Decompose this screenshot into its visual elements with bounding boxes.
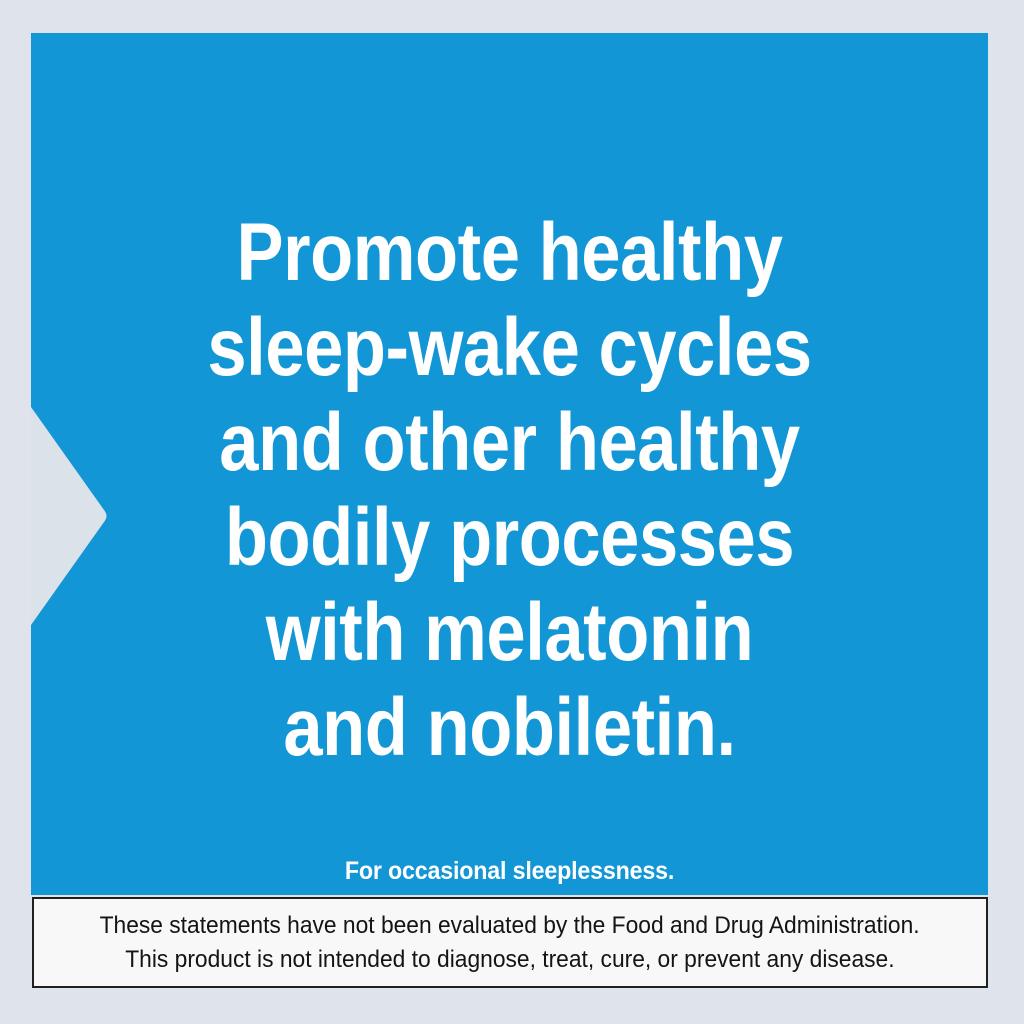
disclaimer-line-1: These statements have not been evaluated… — [100, 909, 920, 943]
page-title: Promote healthy sleep-wake cycles and ot… — [98, 205, 921, 775]
blue-hero-panel: Promote healthy sleep-wake cycles and ot… — [31, 33, 988, 895]
promo-card-canvas: Promote healthy sleep-wake cycles and ot… — [0, 0, 1024, 1024]
headline-line-1: Promote healthy — [98, 205, 921, 300]
fda-disclaimer-box: These statements have not been evaluated… — [32, 897, 988, 988]
headline-line-2: sleep-wake cycles — [98, 300, 921, 395]
subtitle-text: For occasional sleeplessness. — [64, 856, 954, 887]
disclaimer-line-2: This product is not intended to diagnose… — [125, 943, 894, 977]
headline-line-4: bodily processes — [98, 490, 921, 585]
headline-line-3: and other healthy — [98, 395, 921, 490]
headline-line-5: with melatonin — [98, 585, 921, 680]
headline-line-6: and nobiletin. — [98, 680, 921, 775]
